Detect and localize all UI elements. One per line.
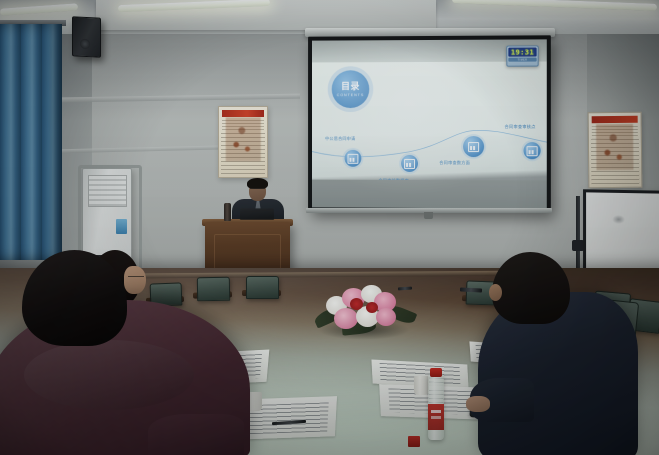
bottle-label (428, 404, 444, 430)
screen-pull-tab[interactable] (424, 212, 433, 219)
window-curtain[interactable] (0, 24, 62, 260)
screen-bottom-band (312, 180, 547, 209)
flow-node-3[interactable] (463, 136, 484, 157)
flow-node-3-label: 合同审查数方面 (439, 160, 470, 166)
flow-node-2[interactable] (401, 155, 418, 172)
bottle-cap (430, 368, 442, 377)
paper-cup[interactable] (414, 376, 429, 395)
attendee-hoodie-arm (148, 414, 244, 455)
ac-display-badge (116, 219, 127, 234)
wall-poster-right (588, 112, 643, 189)
laptop[interactable] (240, 208, 274, 219)
poster-header-band (592, 116, 638, 123)
clock-face: 19:31 (508, 47, 536, 56)
wall-poster-left (218, 106, 268, 178)
screen-surface: 目录 CONTENTS 中公思合同申请 合同审核数据库 合同审查数方面 (312, 39, 547, 208)
poster-header-band (222, 110, 264, 117)
folder-icon (468, 142, 479, 152)
ac-grill (88, 175, 127, 207)
conference-room-photo: 目录 CONTENTS 中公思合同申请 合同审核数据库 合同审查数方面 (0, 0, 659, 455)
glasses-icon (250, 188, 265, 193)
clock-sub-label: TIMER (518, 58, 528, 61)
thermos-flask (224, 203, 231, 221)
checklist-icon (527, 146, 538, 156)
projection-screen[interactable]: 目录 CONTENTS 中公思合同申请 合同审核数据库 合同审查数方面 (308, 35, 551, 212)
flow-node-4-label: 合同审查审核点 (505, 124, 536, 130)
book-icon (404, 158, 415, 168)
flow-node-1[interactable] (345, 150, 362, 167)
flow-node-4[interactable] (523, 142, 540, 159)
attendee-navy-ear (489, 284, 502, 301)
attendee-navy-hand (466, 396, 490, 412)
poster-illustration (226, 117, 261, 160)
clock-sub-panel: TIMER (508, 58, 536, 62)
chair[interactable] (197, 277, 230, 302)
glasses-icon (128, 276, 144, 281)
red-rose (366, 302, 378, 313)
document-icon (348, 153, 359, 163)
speaker-cone (80, 39, 90, 50)
hoodie-fold (24, 340, 194, 410)
chair[interactable] (246, 276, 279, 299)
wall-speaker-icon (72, 16, 101, 58)
flow-node-1-label: 中公思合同申请 (325, 136, 355, 142)
clock-digits: 19:31 (511, 48, 534, 56)
whiteboard-smudge (612, 215, 625, 224)
poster-illustration (596, 124, 634, 170)
presentation-slide: 目录 CONTENTS 中公思合同申请 合同审核数据库 合同审查数方面 (312, 57, 547, 182)
pink-lily (376, 308, 396, 326)
digital-clock-display: 19:31 TIMER (506, 45, 538, 66)
red-marker[interactable] (408, 436, 420, 447)
red-rose (350, 298, 363, 310)
pink-lily (334, 308, 358, 329)
